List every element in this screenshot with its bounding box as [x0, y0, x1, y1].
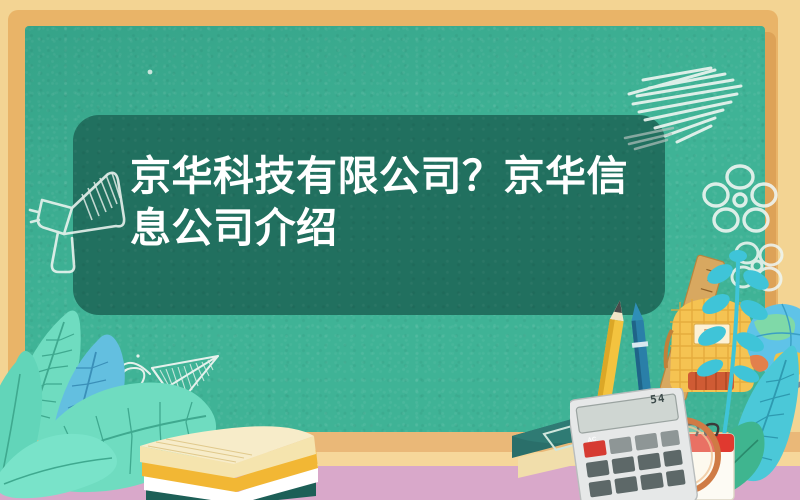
page-title: 京华科技有限公司？京华信息公司介绍	[130, 150, 650, 254]
calculator-ac-label: AC	[587, 437, 596, 444]
calculator-display-value: 54	[649, 392, 666, 407]
poster-canvas: FLORA SCHOOL	[0, 0, 800, 500]
leaf-plant-small-mint	[0, 420, 124, 500]
page-title-text: 京华科技有限公司？京华信息公司介绍	[130, 152, 628, 252]
book-stack-left	[140, 408, 320, 500]
